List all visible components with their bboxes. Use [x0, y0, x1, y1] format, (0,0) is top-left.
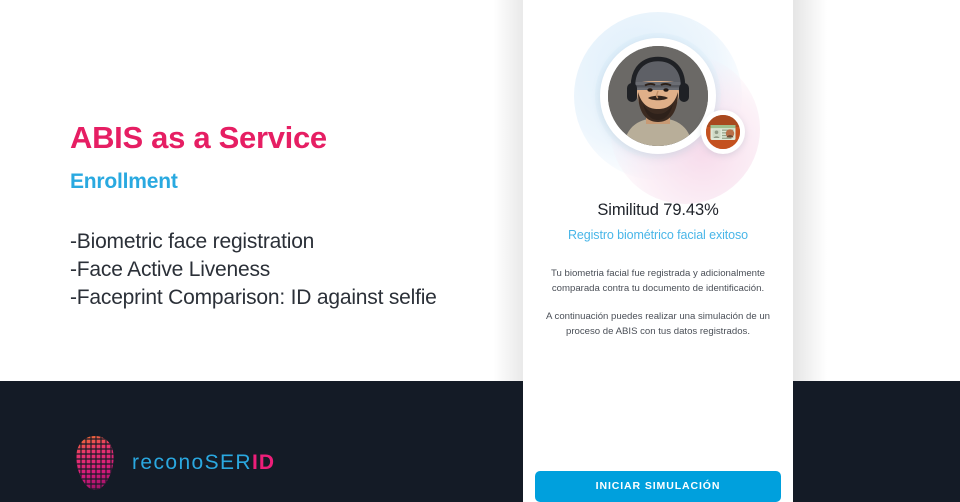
feature-bullet-list: -Biometric face registration -Face Activ…	[70, 228, 437, 312]
list-item: -Face Active Liveness	[70, 256, 437, 284]
brand-wordmark: reconoSERID	[132, 451, 275, 475]
description-paragraph-2: A continuación puedes realizar una simul…	[535, 310, 781, 339]
list-item: -Biometric face registration	[70, 228, 437, 256]
id-card-icon	[706, 115, 740, 149]
description-paragraph-1: Tu biometria facial fue registrada y adi…	[535, 267, 781, 296]
brand-name-secondary: ID	[252, 451, 275, 474]
avatar	[608, 46, 708, 146]
reconoser-face-icon	[72, 435, 118, 491]
left-content-pane: ABIS as a Service Enrollment -Biometric …	[0, 0, 523, 381]
similarity-score: Similitud 79.43%	[523, 201, 793, 220]
page-subtitle: Enrollment	[70, 170, 178, 194]
description-block: Tu biometria facial fue registrada y adi…	[535, 267, 781, 339]
list-item: -Faceprint Comparison: ID against selfie	[70, 284, 437, 312]
id-card-badge	[706, 115, 740, 149]
brand-name-primary: reconoSER	[132, 451, 252, 474]
avatar-composition	[523, 0, 793, 195]
status-badge: Registro biométrico facial exitoso	[523, 228, 793, 242]
start-simulation-button[interactable]: INICIAR SIMULACIÓN	[535, 471, 781, 502]
selfie-photo-icon	[608, 46, 708, 146]
phone-left-shadow	[493, 0, 523, 381]
page-title: ABIS as a Service	[70, 120, 327, 156]
brand-logo: reconoSERID	[72, 435, 275, 491]
slide-canvas: ABIS as a Service Enrollment -Biometric …	[0, 0, 960, 502]
cta-container: INICIAR SIMULACIÓN	[523, 471, 793, 502]
phone-right-shadow	[793, 0, 827, 381]
phone-mockup-panel: Similitud 79.43% Registro biométrico fac…	[523, 0, 793, 502]
